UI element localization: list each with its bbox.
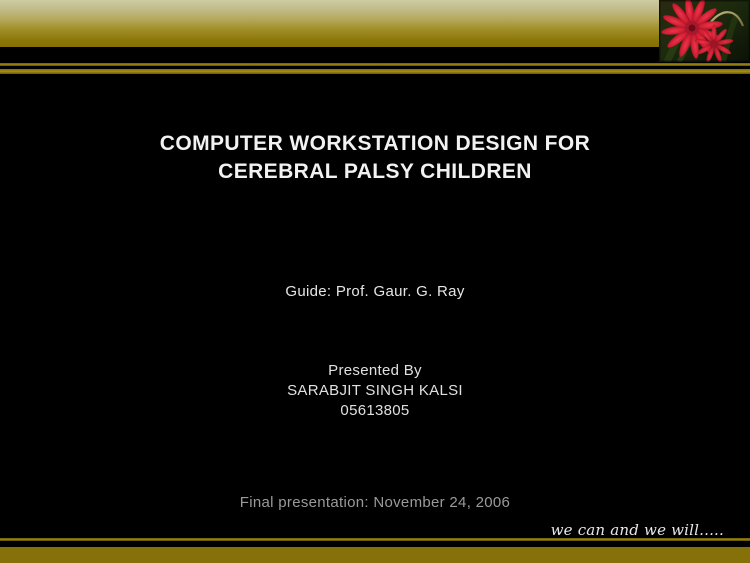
guide-block: Guide: Prof. Gaur. G. Ray bbox=[0, 283, 750, 300]
top-gold-gradient-band bbox=[0, 0, 750, 47]
presentation-date-block: Final presentation: November 24, 2006 bbox=[0, 494, 750, 511]
top-black-band bbox=[0, 47, 750, 63]
presented-by-label: Presented By bbox=[0, 361, 750, 381]
presentation-date-text: Final presentation: November 24, 2006 bbox=[0, 494, 750, 511]
guide-text: Guide: Prof. Gaur. G. Ray bbox=[0, 283, 750, 300]
tagline-text: we can and we will..... bbox=[551, 521, 724, 539]
presenter-block: Presented By SARABJIT SINGH KALSI 056138… bbox=[0, 361, 750, 421]
title-line-1: COMPUTER WORKSTATION DESIGN FOR bbox=[0, 130, 750, 158]
presentation-slide: COMPUTER WORKSTATION DESIGN FOR CEREBRAL… bbox=[0, 0, 750, 563]
presenter-name: SARABJIT SINGH KALSI bbox=[0, 381, 750, 401]
slide-title: COMPUTER WORKSTATION DESIGN FOR CEREBRAL… bbox=[0, 130, 750, 186]
title-line-2: CEREBRAL PALSY CHILDREN bbox=[0, 158, 750, 186]
red-gerbera-daisy-photo bbox=[659, 0, 750, 62]
presenter-roll-number: 05613805 bbox=[0, 401, 750, 421]
top-thick-gold-rule bbox=[0, 69, 750, 74]
bottom-gold-band bbox=[0, 547, 750, 563]
